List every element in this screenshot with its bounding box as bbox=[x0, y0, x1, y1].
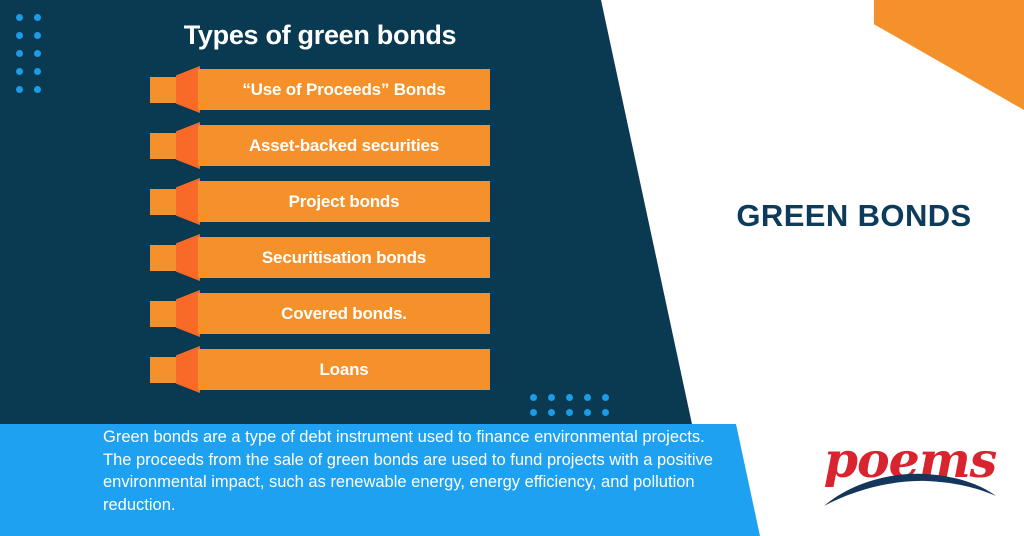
ribbon-label: Project bonds bbox=[289, 192, 400, 212]
green-bond-types-list: “Use of Proceeds” BondsAsset-backed secu… bbox=[150, 66, 490, 402]
decorative-dot bbox=[16, 14, 23, 21]
ribbon-fold-shape bbox=[176, 66, 200, 113]
decorative-dot bbox=[566, 409, 573, 416]
decorative-dot bbox=[16, 68, 23, 75]
decorative-dot bbox=[584, 394, 591, 401]
decorative-dot bbox=[34, 32, 41, 39]
decorative-dot bbox=[566, 394, 573, 401]
decorative-dot bbox=[548, 409, 555, 416]
ribbon-label: “Use of Proceeds” Bonds bbox=[242, 80, 445, 100]
bond-type-ribbon[interactable]: Securitisation bonds bbox=[150, 234, 490, 281]
decorative-dot bbox=[602, 394, 609, 401]
decorative-dot bbox=[16, 32, 23, 39]
decorative-dot bbox=[548, 394, 555, 401]
bond-type-ribbon[interactable]: Covered bonds. bbox=[150, 290, 490, 337]
bond-type-ribbon[interactable]: Asset-backed securities bbox=[150, 122, 490, 169]
bond-type-ribbon[interactable]: Loans bbox=[150, 346, 490, 393]
decorative-dot bbox=[16, 86, 23, 93]
poems-logo: poems bbox=[820, 432, 1000, 510]
page-title: Types of green bonds bbox=[155, 20, 485, 51]
decorative-dot-grid-left bbox=[16, 14, 41, 93]
ribbon-tail-square bbox=[150, 77, 178, 103]
decorative-dot bbox=[16, 50, 23, 57]
ribbon-fold-shape bbox=[176, 122, 200, 169]
decorative-dot bbox=[34, 14, 41, 21]
ribbon-fold-shape bbox=[176, 234, 200, 281]
bond-type-ribbon[interactable]: Project bonds bbox=[150, 178, 490, 225]
ribbon-label: Asset-backed securities bbox=[249, 136, 439, 156]
decorative-dot bbox=[34, 68, 41, 75]
ribbon-label: Covered bonds. bbox=[281, 304, 407, 324]
ribbon-tail-square bbox=[150, 189, 178, 215]
bond-type-ribbon[interactable]: “Use of Proceeds” Bonds bbox=[150, 66, 490, 113]
ribbon-tail-square bbox=[150, 133, 178, 159]
ribbon-tail-square bbox=[150, 245, 178, 271]
ribbon-fold-shape bbox=[176, 290, 200, 337]
ribbon-tail-square bbox=[150, 301, 178, 327]
decorative-dot bbox=[34, 50, 41, 57]
ribbon-bar: “Use of Proceeds” Bonds bbox=[198, 69, 490, 110]
ribbon-bar: Loans bbox=[198, 349, 490, 390]
ribbon-label: Securitisation bonds bbox=[262, 248, 426, 268]
decorative-dot bbox=[530, 409, 537, 416]
decorative-dot-grid-middle bbox=[530, 394, 609, 416]
ribbon-fold-shape bbox=[176, 346, 200, 393]
decorative-dot bbox=[530, 394, 537, 401]
decorative-dot bbox=[584, 409, 591, 416]
decorative-dot bbox=[602, 409, 609, 416]
ribbon-fold-shape bbox=[176, 178, 200, 225]
ribbon-label: Loans bbox=[319, 360, 368, 380]
description-paragraph: Green bonds are a type of debt instrumen… bbox=[103, 426, 725, 516]
ribbon-bar: Covered bonds. bbox=[198, 293, 490, 334]
infographic-canvas: Types of green bonds “Use of Proceeds” B… bbox=[0, 0, 1024, 536]
ribbon-bar: Securitisation bonds bbox=[198, 237, 490, 278]
decorative-dot bbox=[34, 86, 41, 93]
ribbon-bar: Project bonds bbox=[198, 181, 490, 222]
ribbon-bar: Asset-backed securities bbox=[198, 125, 490, 166]
ribbon-tail-square bbox=[150, 357, 178, 383]
right-heading: GREEN BONDS bbox=[714, 198, 994, 234]
logo-swoosh-icon bbox=[822, 470, 998, 510]
